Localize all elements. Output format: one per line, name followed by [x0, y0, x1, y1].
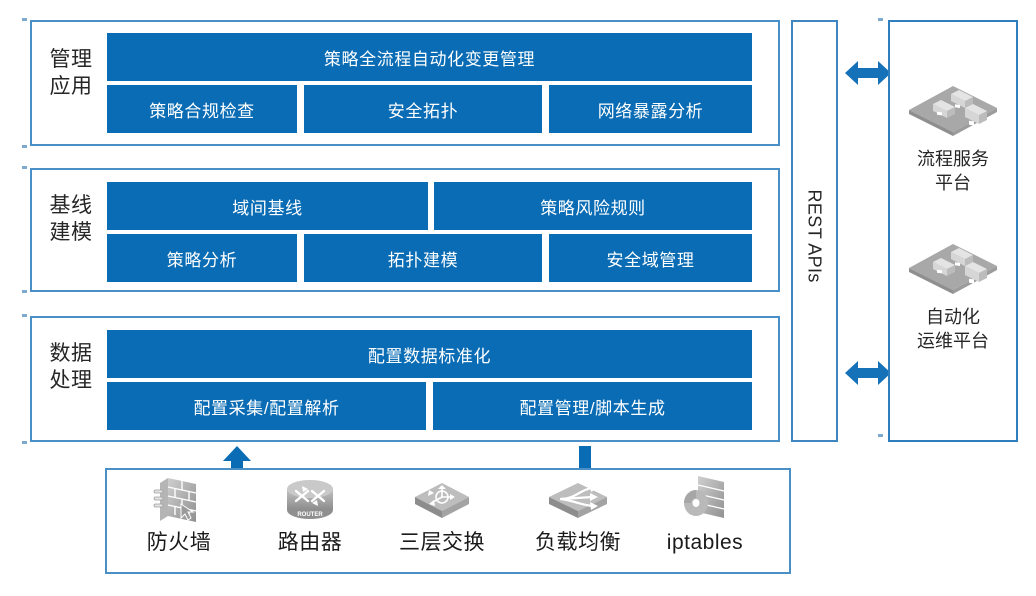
layer-title-baseline-modeling: 基线 建模 [30, 192, 112, 246]
corner-tick-mark [878, 434, 883, 437]
rest-apis-label: REST APIs [804, 190, 825, 276]
block-label: 域间基线 [232, 194, 302, 219]
platform-label: 流程服务 平台 [889, 147, 1017, 195]
architecture-diagram: 管理 应用 策略全流程自动化变更管理 策略合规检查 安全拓扑 网络暴露分析 基线… [0, 0, 1036, 596]
layer-title-management-application: 管理 应用 [30, 46, 112, 100]
block-security-topology[interactable]: 安全拓扑 [304, 85, 542, 133]
block-label: 拓扑建模 [388, 246, 458, 271]
block-label: 配置采集/配置解析 [193, 394, 339, 419]
corner-tick-mark [22, 441, 27, 444]
block-policy-compliance-check[interactable]: 策略合规检查 [107, 85, 297, 133]
block-config-management-script-generation[interactable]: 配置管理/脚本生成 [433, 382, 752, 430]
device-router[interactable]: ROUTER 路由器 [250, 472, 370, 556]
layer-title-line2: 处理 [30, 367, 112, 394]
load-balancer-icon [518, 472, 638, 528]
block-config-data-standardization[interactable]: 配置数据标准化 [107, 330, 752, 378]
firewall-icon [119, 472, 239, 528]
server-platform-icon [889, 82, 1017, 143]
block-label: 策略分析 [167, 246, 237, 271]
block-label: 策略全流程自动化变更管理 [324, 45, 535, 70]
platform-label-line1: 流程服务 [889, 147, 1017, 171]
block-label: 配置管理/脚本生成 [519, 394, 665, 419]
iptables-icon [645, 472, 765, 528]
corner-tick-mark [22, 18, 27, 21]
layer-title-line2: 建模 [30, 219, 112, 246]
server-platform-icon [889, 240, 1017, 301]
layer-title-line1: 基线 [30, 192, 112, 219]
block-label: 策略风险规则 [540, 194, 646, 219]
block-policy-risk-rules[interactable]: 策略风险规则 [434, 182, 752, 230]
corner-tick-mark [22, 145, 27, 148]
block-label: 配置数据标准化 [368, 342, 491, 367]
corner-tick-mark [22, 314, 27, 317]
layer-title-data-processing: 数据 处理 [30, 340, 112, 394]
device-load-balancer[interactable]: 负载均衡 [518, 472, 638, 556]
block-inter-domain-baseline[interactable]: 域间基线 [107, 182, 428, 230]
device-firewall[interactable]: 防火墙 [119, 472, 239, 556]
device-layer3-switch[interactable]: 三层交换 [382, 472, 502, 556]
device-label: 负载均衡 [518, 530, 638, 556]
device-label: iptables [645, 530, 765, 556]
block-network-exposure-analysis[interactable]: 网络暴露分析 [549, 85, 752, 133]
block-policy-lifecycle-automation[interactable]: 策略全流程自动化变更管理 [107, 33, 752, 81]
rest-to-process-platform-arrow [845, 58, 891, 88]
block-policy-analysis[interactable]: 策略分析 [107, 234, 297, 282]
layer-title-line1: 管理 [30, 46, 112, 73]
block-label: 网络暴露分析 [598, 97, 704, 122]
platform-label-line2: 平台 [889, 171, 1017, 195]
block-security-zone-management[interactable]: 安全域管理 [549, 234, 752, 282]
layer3-switch-icon [382, 472, 502, 528]
device-label: 三层交换 [382, 530, 502, 556]
block-topology-modeling[interactable]: 拓扑建模 [304, 234, 542, 282]
layer-title-line1: 数据 [30, 340, 112, 367]
device-label: 路由器 [250, 530, 370, 556]
block-label: 安全拓扑 [388, 97, 458, 122]
layer-title-line2: 应用 [30, 73, 112, 100]
block-label: 策略合规检查 [149, 97, 255, 122]
router-icon: ROUTER [250, 472, 370, 528]
platform-label-line2: 运维平台 [889, 329, 1017, 353]
platform-automation-ops[interactable]: 自动化 运维平台 [889, 240, 1017, 353]
device-iptables[interactable]: iptables [645, 472, 765, 556]
block-label: 安全域管理 [607, 246, 695, 271]
rest-to-automation-platform-arrow [845, 358, 891, 388]
corner-tick-mark [22, 166, 27, 169]
platform-label: 自动化 运维平台 [889, 305, 1017, 353]
platform-label-line1: 自动化 [889, 305, 1017, 329]
block-config-collection-parsing[interactable]: 配置采集/配置解析 [107, 382, 426, 430]
corner-tick-mark [22, 290, 27, 293]
svg-text:ROUTER: ROUTER [297, 512, 323, 518]
device-label: 防火墙 [119, 530, 239, 556]
corner-tick-mark [878, 18, 883, 21]
platform-process-service[interactable]: 流程服务 平台 [889, 82, 1017, 195]
